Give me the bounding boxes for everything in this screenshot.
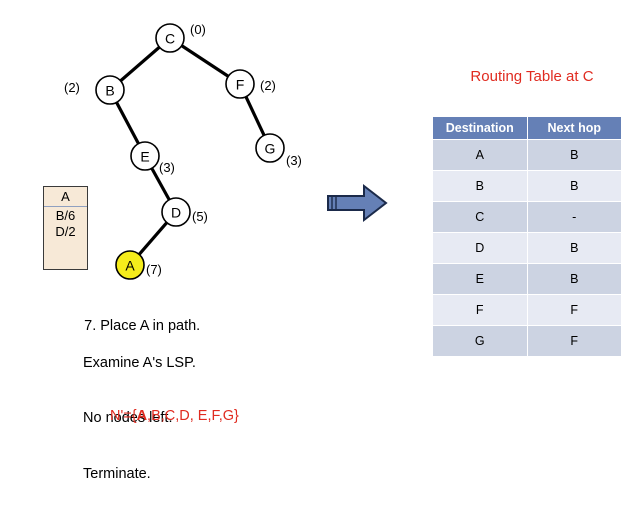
cell-destination: D bbox=[433, 233, 527, 263]
n-prime-bold-node: A bbox=[137, 408, 147, 424]
table-row: FF bbox=[433, 295, 621, 325]
cell-destination: E bbox=[433, 264, 527, 294]
routing-table-header-row: Destination Next hop bbox=[433, 117, 621, 139]
table-row: EB bbox=[433, 264, 621, 294]
cell-next-hop: - bbox=[528, 202, 622, 232]
lsp-entry: B/6 bbox=[44, 208, 87, 224]
step-line: 7. Place A in path. bbox=[84, 318, 200, 334]
lsp-entry: D/2 bbox=[44, 224, 87, 240]
cell-destination: F bbox=[433, 295, 527, 325]
lsp-box-entries: B/6 D/2 bbox=[44, 207, 87, 240]
node-cost-a: (7) bbox=[146, 262, 162, 277]
routing-table: Destination Next hop ABBBC-DBEBFFGF bbox=[432, 116, 622, 357]
cell-next-hop: F bbox=[528, 326, 622, 356]
table-row: DB bbox=[433, 233, 621, 263]
node-label-a: A bbox=[125, 258, 135, 274]
node-label-g: G bbox=[265, 141, 276, 157]
graph-nodes: C(0)B(2)F(2)E(3)G(3)D(5)A(7) bbox=[64, 22, 302, 279]
routing-table-title: Routing Table at C bbox=[452, 68, 612, 85]
column-header-destination: Destination bbox=[433, 117, 527, 139]
table-row: BB bbox=[433, 171, 621, 201]
cell-next-hop: B bbox=[528, 171, 622, 201]
routing-table-body: ABBBC-DBEBFFGF bbox=[433, 140, 621, 356]
node-label-e: E bbox=[140, 149, 149, 165]
table-row: C- bbox=[433, 202, 621, 232]
right-arrow-icon bbox=[326, 180, 396, 226]
graph-edge-c-f bbox=[181, 45, 229, 77]
node-label-f: F bbox=[236, 77, 245, 93]
node-cost-c: (0) bbox=[190, 22, 206, 37]
node-cost-g: (3) bbox=[286, 153, 302, 168]
node-cost-f: (2) bbox=[260, 78, 276, 93]
step-line-text: Examine A's LSP. bbox=[68, 354, 200, 373]
cell-next-hop: B bbox=[528, 233, 622, 263]
slide-canvas: C(0)B(2)F(2)E(3)G(3)D(5)A(7) A B/6 D/2 7… bbox=[0, 0, 633, 446]
step-number: 7. bbox=[84, 318, 96, 334]
n-prime-rest: ,B,C,D, E,F,G} bbox=[147, 408, 239, 424]
graph-edge-d-a bbox=[139, 222, 168, 255]
cell-next-hop: F bbox=[528, 295, 622, 325]
node-label-d: D bbox=[171, 205, 181, 221]
graph-node-f[interactable]: F(2) bbox=[226, 70, 276, 98]
column-header-next-hop: Next hop bbox=[528, 117, 622, 139]
cell-next-hop: B bbox=[528, 140, 622, 170]
step-line-text: Terminate. bbox=[68, 465, 200, 484]
node-cost-b: (2) bbox=[64, 80, 80, 95]
node-cost-e: (3) bbox=[159, 160, 175, 175]
table-row: GF bbox=[433, 326, 621, 356]
cell-destination: C bbox=[433, 202, 527, 232]
node-cost-d: (5) bbox=[192, 209, 208, 224]
cell-destination: A bbox=[433, 140, 527, 170]
graph-node-b[interactable]: B(2) bbox=[64, 76, 124, 104]
node-label-b: B bbox=[105, 83, 114, 99]
graph-node-d[interactable]: D(5) bbox=[162, 198, 208, 226]
node-label-c: C bbox=[165, 31, 175, 47]
step-line-text: Place A in path. bbox=[100, 318, 200, 334]
table-row: AB bbox=[433, 140, 621, 170]
lsp-box: A B/6 D/2 bbox=[43, 186, 88, 270]
graph-edge-f-g bbox=[246, 96, 265, 136]
lsp-box-header: A bbox=[44, 187, 87, 207]
n-prime-prefix: N'={ bbox=[110, 408, 137, 424]
cell-next-hop: B bbox=[528, 264, 622, 294]
cell-destination: B bbox=[433, 171, 527, 201]
graph-node-a[interactable]: A(7) bbox=[116, 251, 162, 279]
graph-node-g[interactable]: G(3) bbox=[256, 134, 302, 168]
graph-edge-c-b bbox=[120, 47, 160, 82]
n-prime-set: N'={A,B,C,D, E,F,G} bbox=[110, 408, 239, 424]
graph-edge-b-e bbox=[116, 101, 139, 144]
cell-destination: G bbox=[433, 326, 527, 356]
graph-node-c[interactable]: C(0) bbox=[156, 22, 206, 52]
